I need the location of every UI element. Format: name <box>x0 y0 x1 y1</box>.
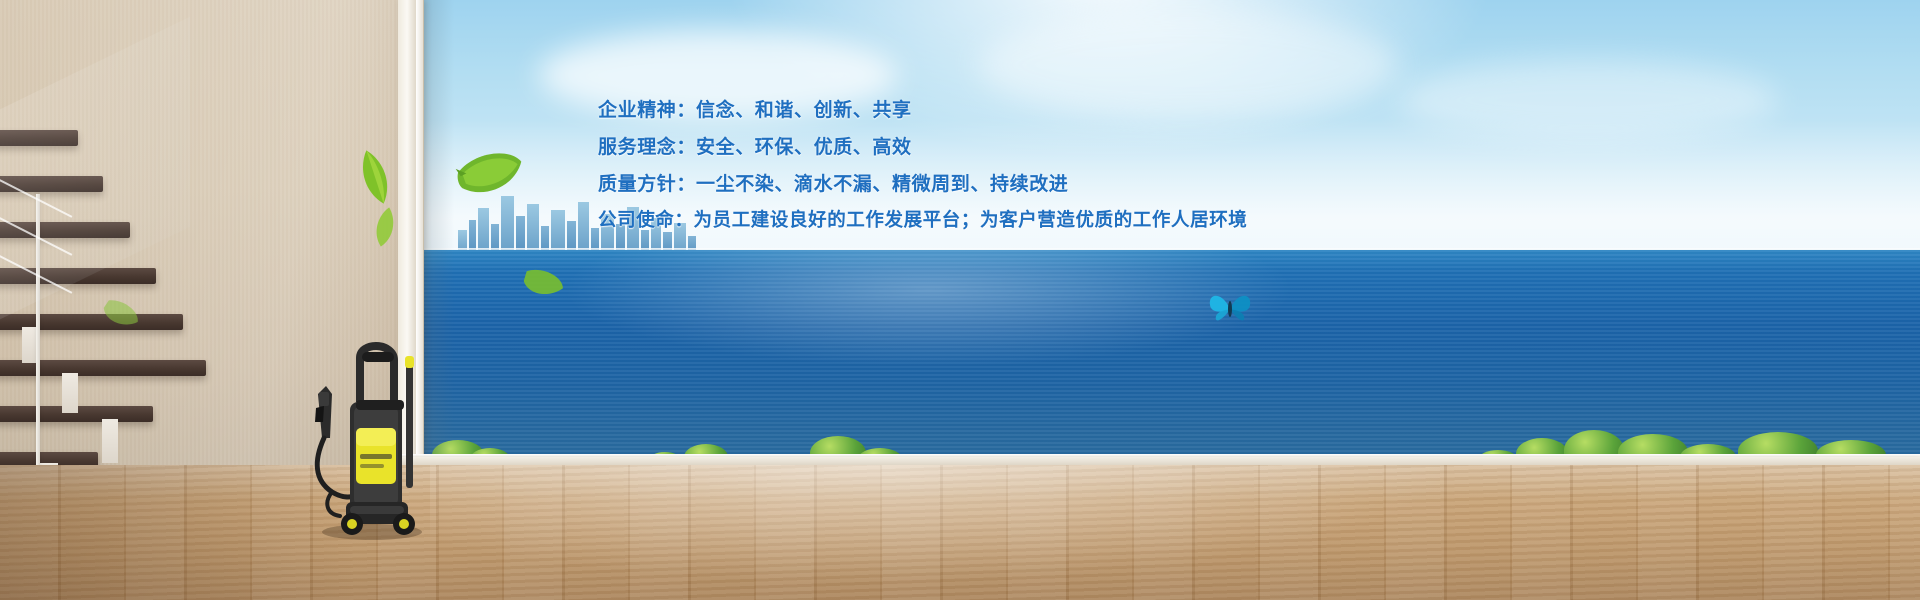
wooden-floor <box>0 465 1920 600</box>
window-seascape <box>418 0 1920 470</box>
culture-line-spirit: 企业精神：信念、和谐、创新、共享 <box>598 95 1358 122</box>
company-culture-banner: 企业精神：信念、和谐、创新、共享 服务理念：安全、环保、优质、高效 质量方针：一… <box>0 0 1920 600</box>
culture-line-service: 服务理念：安全、环保、优质、高效 <box>598 132 1358 159</box>
butterfly-icon <box>1206 285 1254 336</box>
stair-riser <box>22 327 36 363</box>
building <box>527 204 539 254</box>
building <box>578 202 589 254</box>
stair-riser <box>62 373 78 413</box>
stair-riser <box>102 419 118 463</box>
culture-line-mission: 公司使命：为员工建设良好的工作发展平台；为客户营造优质的工作人居环境 <box>598 206 1358 232</box>
culture-text-block: 企业精神：信念、和谐、创新、共享 服务理念：安全、环保、优质、高效 质量方针：一… <box>598 95 1358 232</box>
building <box>501 196 514 254</box>
leaf-icon <box>452 147 530 205</box>
floor-reflection <box>430 465 1530 600</box>
pressure-washer <box>310 342 430 542</box>
culture-line-quality: 质量方针：一尘不染、滴水不漏、精微周到、持续改进 <box>598 169 1358 196</box>
